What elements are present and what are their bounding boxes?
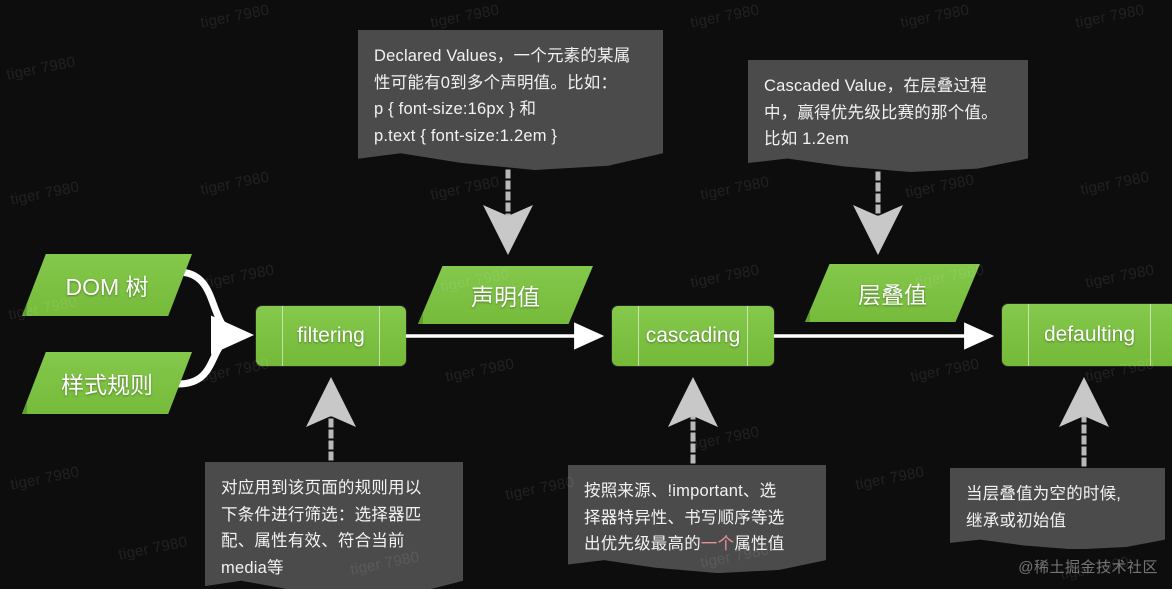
callout-line: 下条件进行筛选：选择器匹	[221, 502, 449, 529]
watermark-text: tiger 7980	[689, 2, 761, 32]
diagram-canvas: tiger 7980tiger 7980tiger 7980tiger 7980…	[0, 0, 1172, 589]
process-rail-l	[282, 306, 283, 366]
callout-line: 配、属性有效、符合当前	[221, 528, 449, 555]
process-node-filtering[interactable]: filtering	[256, 306, 406, 366]
callout-cascading-note: 按照来源、!important、选择器特异性、书写顺序等选出优先级最高的一个属性…	[568, 465, 826, 573]
watermark-text: tiger 7980	[429, 174, 501, 204]
watermark-text: tiger 7980	[1079, 169, 1151, 199]
callout-text: media等	[221, 559, 284, 577]
process-node-cascading[interactable]: cascading	[612, 306, 774, 366]
process-node-label: defaulting	[1044, 323, 1135, 347]
input-node-dom-tree[interactable]: DOM 树	[22, 254, 192, 316]
callout-declared-values-note: Declared Values，一个元素的某属性可能有0到多个声明值。比如：p …	[358, 30, 663, 170]
callout-text: 性可能有0到多个声明值。比如：	[374, 74, 617, 92]
watermark-text: tiger 7980	[689, 262, 761, 292]
callout-text: p { font-size:16px } 和	[374, 100, 536, 118]
shape-left-edge	[22, 352, 27, 414]
callout-text: 对应用到该页面的规则用以	[221, 479, 421, 497]
process-node-label: filtering	[297, 324, 365, 348]
inputs-merge-to-filtering	[178, 272, 248, 384]
process-rail-l	[1028, 304, 1029, 366]
callout-text: 出优先级最高的	[584, 535, 701, 553]
value-node-cascaded-value[interactable]: 层叠值	[805, 264, 980, 322]
watermark-text: tiger 7980	[9, 179, 81, 209]
callout-text: 属性值	[734, 535, 784, 553]
callout-line: 择器特异性、书写顺序等选	[584, 505, 812, 532]
callout-text: 下条件进行筛选：选择器匹	[221, 506, 421, 524]
callout-line: Declared Values，一个元素的某属	[374, 43, 649, 70]
callout-line: p.text { font-size:1.2em }	[374, 123, 649, 150]
process-node-defaulting[interactable]: defaulting	[1002, 304, 1172, 366]
brand-watermark: @稀土掘金技术社区	[1018, 556, 1158, 577]
callout-defaulting-note: 当层叠值为空的时候,继承或初始值	[950, 468, 1165, 549]
input-node-label: 样式规则	[61, 366, 153, 400]
process-rail-r	[747, 306, 748, 366]
watermark-text: tiger 7980	[1074, 2, 1146, 32]
shape-left-edge	[418, 266, 423, 324]
callout-text: p.text { font-size:1.2em }	[374, 127, 557, 145]
watermark-text: tiger 7980	[5, 54, 77, 84]
process-node-label: cascading	[646, 324, 741, 348]
callout-line: 出优先级最高的一个属性值	[584, 531, 812, 558]
watermark-text: tiger 7980	[904, 172, 976, 202]
watermark-text: tiger 7980	[444, 356, 516, 386]
process-rail-r	[379, 306, 380, 366]
callout-line: 对应用到该页面的规则用以	[221, 475, 449, 502]
watermark-text: tiger 7980	[1084, 262, 1156, 292]
callout-line: p { font-size:16px } 和	[374, 96, 649, 123]
watermark-text: tiger 7980	[429, 2, 501, 32]
callout-text: 中，赢得优先级比赛的那个值。	[764, 104, 998, 122]
callout-line: 继承或初始值	[966, 508, 1151, 535]
shape-left-edge	[805, 264, 810, 322]
input-node-label: DOM 树	[65, 268, 148, 302]
callout-line: 按照来源、!important、选	[584, 478, 812, 505]
callout-text: 当层叠值为空的时候,	[966, 485, 1121, 503]
watermark-text: tiger 7980	[504, 474, 576, 504]
callout-text: 择器特异性、书写顺序等选	[584, 509, 784, 527]
callout-text: 继承或初始值	[966, 512, 1066, 530]
value-node-label: 声明值	[471, 278, 540, 312]
process-rail-l	[638, 306, 639, 366]
callout-text: 按照来源、!important、选	[584, 482, 776, 500]
callout-cascaded-value-note: Cascaded Value，在层叠过程中，赢得优先级比赛的那个值。比如 1.2…	[748, 60, 1028, 172]
watermark-text: tiger 7980	[689, 424, 761, 454]
watermark-text: tiger 7980	[199, 169, 271, 199]
watermark-text: tiger 7980	[9, 464, 81, 494]
watermark-text: tiger 7980	[699, 174, 771, 204]
watermark-text: tiger 7980	[199, 2, 271, 32]
callout-text: 配、属性有效、符合当前	[221, 532, 405, 550]
watermark-text: tiger 7980	[854, 464, 926, 494]
value-node-label: 层叠值	[858, 276, 927, 310]
callout-line: 比如 1.2em	[764, 126, 1014, 153]
callout-line: 当层叠值为空的时候,	[966, 481, 1151, 508]
value-node-declared-value[interactable]: 声明值	[418, 266, 593, 324]
watermark-text: tiger 7980	[899, 2, 971, 32]
watermark-text: tiger 7980	[909, 356, 981, 386]
watermark-text: tiger 7980	[117, 534, 189, 564]
callout-line: 性可能有0到多个声明值。比如：	[374, 70, 649, 97]
callout-line: media等	[221, 555, 449, 582]
process-rail-r	[1150, 304, 1151, 366]
callout-text: 比如 1.2em	[764, 130, 849, 148]
callout-text: Declared Values，一个元素的某属	[374, 47, 630, 65]
watermark-text: tiger 7980	[204, 262, 276, 292]
callout-filtering-note: 对应用到该页面的规则用以下条件进行筛选：选择器匹配、属性有效、符合当前media…	[205, 462, 463, 589]
callout-highlight-text: 一个	[701, 535, 734, 553]
shape-left-edge	[22, 254, 27, 316]
callout-text: Cascaded Value，在层叠过程	[764, 77, 987, 95]
input-node-style-rules[interactable]: 样式规则	[22, 352, 192, 414]
callout-line: Cascaded Value，在层叠过程	[764, 73, 1014, 100]
callout-line: 中，赢得优先级比赛的那个值。	[764, 100, 1014, 127]
